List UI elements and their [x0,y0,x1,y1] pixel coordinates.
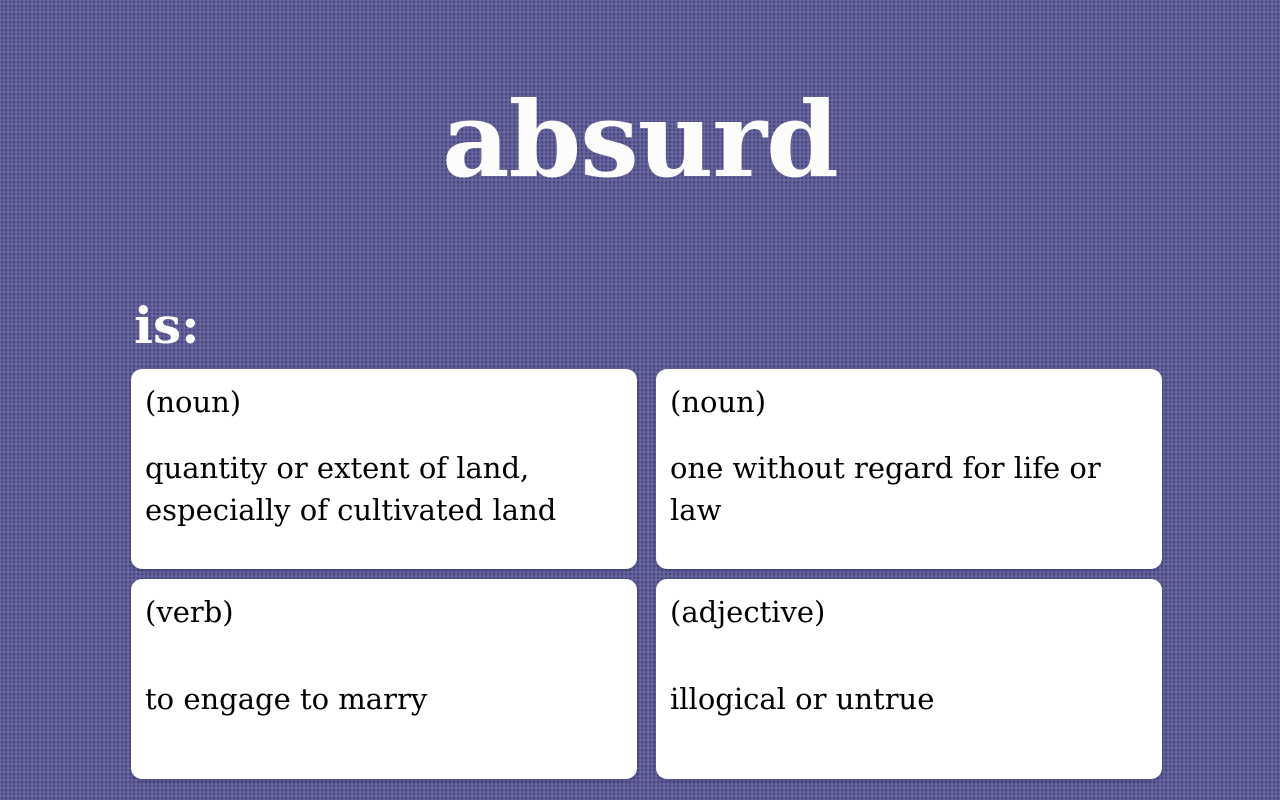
page-title: absurd [0,84,1280,196]
part-of-speech-label: (noun) [670,385,1148,419]
definition-card-2[interactable]: (noun) one without regard for life or la… [656,369,1162,569]
definition-options-grid: (noun) quantity or extent of land, espec… [131,369,1157,779]
part-of-speech-label: (noun) [145,385,623,419]
definition-body: to engage to marry [145,631,623,767]
definition-body: quantity or extent of land, especially o… [145,421,623,557]
is-label: is: [134,298,200,354]
definition-body: illogical or untrue [670,631,1148,767]
quiz-page: absurd is: (noun) quantity or extent of … [0,0,1280,800]
part-of-speech-label: (adjective) [670,595,1148,629]
part-of-speech-label: (verb) [145,595,623,629]
definition-card-3[interactable]: (verb) to engage to marry [131,579,637,779]
definition-text: to engage to marry [145,678,623,720]
definition-text: one without regard for life or law [670,447,1148,531]
definition-body: one without regard for life or law [670,421,1148,557]
definition-text: illogical or untrue [670,678,1148,720]
definition-card-4[interactable]: (adjective) illogical or untrue [656,579,1162,779]
definition-card-1[interactable]: (noun) quantity or extent of land, espec… [131,369,637,569]
definition-text: quantity or extent of land, especially o… [145,447,623,531]
